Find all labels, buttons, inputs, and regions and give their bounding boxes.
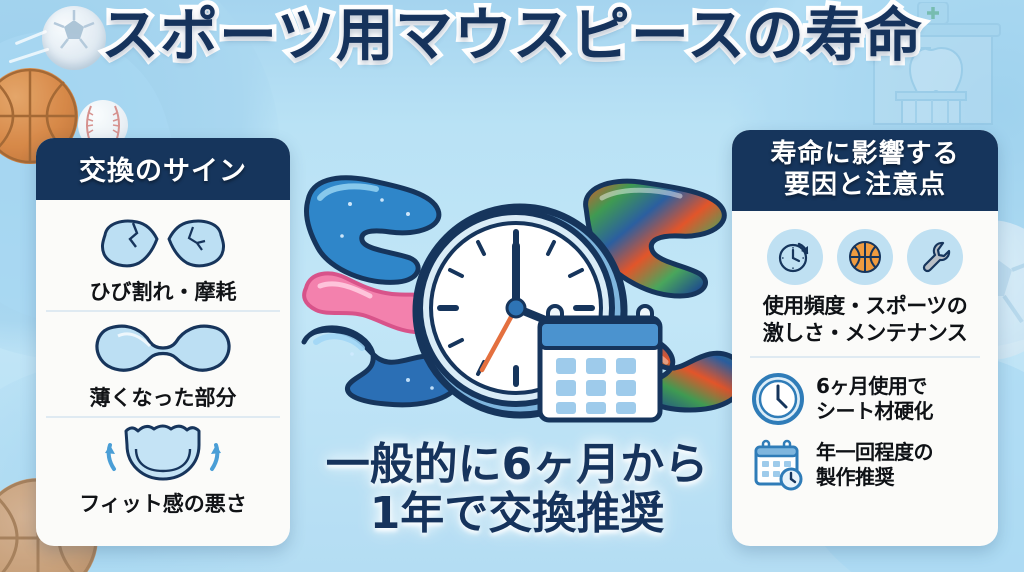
factor-description: 使用頻度・スポーツの 激しさ・メンテナンス	[742, 291, 988, 356]
sign-label: ひび割れ・摩耗	[46, 276, 280, 306]
sign-item-fit: フィット感の悪さ	[46, 416, 280, 522]
note-line-2: 製作推奨	[816, 465, 933, 489]
main-caption: 一般的に6ヶ月から 1年で交換推奨	[300, 440, 734, 539]
title-container: スポーツ用マウスピースの寿命	[0, 6, 1024, 65]
loose-fit-mouthguard-icon	[46, 424, 280, 486]
left-panel-body: ひび割れ・摩耗 薄くなった部分	[36, 200, 290, 530]
right-panel-header-line-1: 寿命に影響する	[738, 139, 992, 170]
left-panel-header: 交換のサイン	[36, 138, 290, 200]
caption-line-2: 1年で交換推奨	[300, 489, 734, 538]
factor-description-line-1: 使用頻度・スポーツの	[744, 293, 986, 319]
calendar-clock-icon	[750, 437, 806, 493]
divider	[750, 356, 980, 358]
note-yearly-remake: 年一回程度の 製作推奨	[742, 432, 988, 498]
clock-icon	[750, 371, 806, 427]
cracked-mouthguard-icon	[46, 212, 280, 274]
sign-label: 薄くなった部分	[46, 382, 280, 412]
note-text: 6ヶ月使用で シート材硬化	[816, 374, 933, 423]
note-line-1: 年一回程度の	[816, 440, 933, 464]
replacement-signs-panel: 交換のサイン ひび割れ・摩耗	[36, 138, 290, 546]
note-line-1: 6ヶ月使用で	[816, 374, 933, 398]
calendar-icon	[534, 300, 684, 430]
clock-arrow-icon	[767, 229, 823, 285]
sign-item-thin: 薄くなった部分	[46, 310, 280, 416]
sign-item-crack: ひび割れ・摩耗	[46, 206, 280, 310]
factor-description-line-2: 激しさ・メンテナンス	[744, 320, 986, 346]
center-illustration	[290, 170, 730, 440]
factor-icon-row	[742, 229, 988, 285]
infographic-canvas: スポーツ用マウスピースの寿命 交換のサイン ひび割れ・摩耗	[0, 0, 1024, 572]
note-sheet-hardening: 6ヶ月使用で シート材硬化	[742, 366, 988, 432]
lifespan-factors-panel: 寿命に影響する 要因と注意点	[732, 130, 998, 546]
right-panel-header: 寿命に影響する 要因と注意点	[732, 130, 998, 211]
caption-line-1: 一般的に6ヶ月から	[326, 439, 709, 490]
right-panel-body: 使用頻度・スポーツの 激しさ・メンテナンス 6ヶ月使用で シート材硬化	[732, 211, 998, 506]
page-title: スポーツ用マウスピースの寿命	[101, 6, 923, 65]
wrench-icon	[907, 229, 963, 285]
basketball-icon	[837, 229, 893, 285]
note-text: 年一回程度の 製作推奨	[816, 440, 933, 489]
sign-label: フィット感の悪さ	[46, 488, 280, 518]
note-line-2: シート材硬化	[816, 399, 933, 423]
thinned-mouthguard-icon	[46, 318, 280, 380]
clock-calendar-group	[408, 196, 638, 430]
right-panel-header-line-2: 要因と注意点	[738, 170, 992, 201]
